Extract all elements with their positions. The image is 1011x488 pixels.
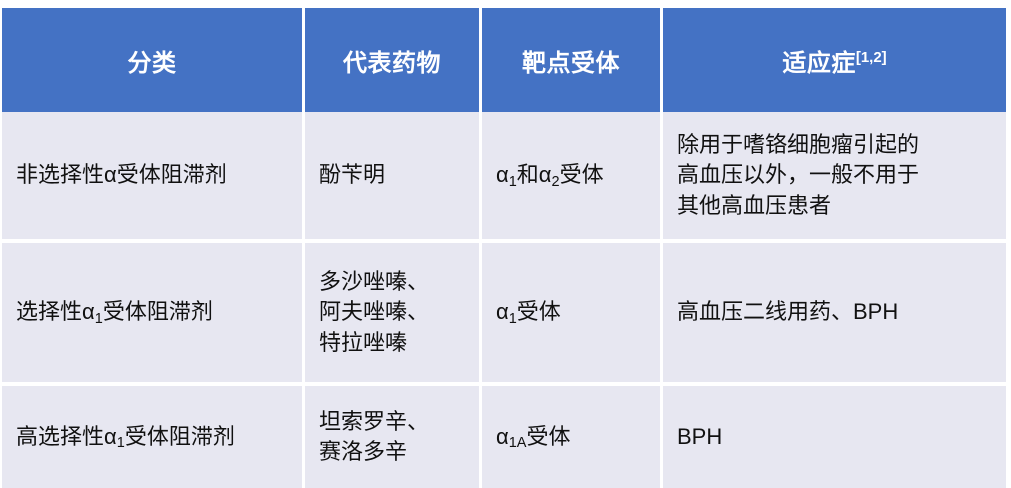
drug-name: 赛洛多辛 bbox=[319, 437, 465, 467]
receptor-suffix: 受体 bbox=[517, 299, 561, 324]
cell-indications: 高血压二线用药、BPH bbox=[663, 243, 1006, 386]
column-header-target-receptor: 靶点受体 bbox=[482, 8, 663, 112]
column-header-classification: 分类 bbox=[2, 8, 305, 112]
classification-subscript: 1 bbox=[95, 311, 103, 327]
receptor-suffix: 受体 bbox=[526, 424, 570, 449]
drug-name: 特拉唑嗪 bbox=[319, 328, 465, 358]
cell-representative-drugs: 多沙唑嗪、 阿夫唑嗪、 特拉唑嗪 bbox=[305, 243, 482, 386]
target-receptor-text: α1受体 bbox=[496, 299, 561, 324]
receptor-subscript: 1 bbox=[509, 174, 517, 190]
column-header-target-receptor-label: 靶点受体 bbox=[522, 50, 620, 77]
table-row: 高选择性α1受体阻滞剂 坦索罗辛、 赛洛多辛 α1A受体 BPH bbox=[2, 386, 1006, 488]
classification-prefix: 选择性α bbox=[16, 299, 95, 324]
receptor-symbol: α bbox=[496, 424, 509, 449]
classification-text: 选择性α1受体阻滞剂 bbox=[16, 299, 213, 324]
indication-line: 高血压二线用药、BPH bbox=[677, 297, 992, 327]
column-header-representative-drugs-label: 代表药物 bbox=[343, 50, 441, 77]
classification-prefix: 高选择性α bbox=[16, 424, 117, 449]
drug-name: 阿夫唑嗪、 bbox=[319, 297, 465, 327]
column-header-classification-label: 分类 bbox=[128, 50, 177, 77]
table-row: 选择性α1受体阻滞剂 多沙唑嗪、 阿夫唑嗪、 特拉唑嗪 α1受体 高血压二线用药… bbox=[2, 243, 1006, 386]
cell-classification: 选择性α1受体阻滞剂 bbox=[2, 243, 305, 386]
classification-text: 高选择性α1受体阻滞剂 bbox=[16, 424, 235, 449]
cell-indications: BPH bbox=[663, 386, 1006, 488]
cell-representative-drugs: 酚苄明 bbox=[305, 112, 482, 243]
column-header-indications-label: 适应症 bbox=[782, 50, 856, 77]
receptor-subscript: 1A bbox=[509, 435, 527, 451]
receptor-subscript-2: 2 bbox=[552, 174, 560, 190]
table-row: 非选择性α受体阻滞剂 酚苄明 α1和α2受体 除用于嗜铬细胞瘤引起的 高血压以外… bbox=[2, 112, 1006, 243]
receptor-conjunction: 和α bbox=[517, 162, 552, 187]
receptor-subscript: 1 bbox=[509, 311, 517, 327]
cell-representative-drugs: 坦索罗辛、 赛洛多辛 bbox=[305, 386, 482, 488]
column-header-representative-drugs: 代表药物 bbox=[305, 8, 482, 112]
cell-classification: 高选择性α1受体阻滞剂 bbox=[2, 386, 305, 488]
drug-name: 酚苄明 bbox=[319, 160, 465, 190]
cell-indications: 除用于嗜铬细胞瘤引起的 高血压以外，一般不用于 其他高血压患者 bbox=[663, 112, 1006, 243]
table-body: 非选择性α受体阻滞剂 酚苄明 α1和α2受体 除用于嗜铬细胞瘤引起的 高血压以外… bbox=[2, 112, 1006, 488]
drug-name: 多沙唑嗪、 bbox=[319, 267, 465, 297]
classification-suffix: 受体阻滞剂 bbox=[103, 299, 213, 324]
indication-line: 除用于嗜铬细胞瘤引起的 bbox=[677, 130, 992, 160]
classification-suffix: 受体阻滞剂 bbox=[125, 424, 235, 449]
drug-name: 坦索罗辛、 bbox=[319, 407, 465, 437]
cell-target-receptor: α1和α2受体 bbox=[482, 112, 663, 243]
column-header-indications: 适应症[1,2] bbox=[663, 8, 1006, 112]
receptor-symbol: α bbox=[496, 162, 509, 187]
classification-subscript: 1 bbox=[117, 435, 125, 451]
indications-reference-superscript: [1,2] bbox=[856, 49, 887, 66]
page-canvas: 分类 代表药物 靶点受体 适应症[1,2] 非选择性α受体阻滞剂 bbox=[0, 0, 1011, 487]
cell-target-receptor: α1A受体 bbox=[482, 386, 663, 488]
table-header: 分类 代表药物 靶点受体 适应症[1,2] bbox=[2, 8, 1006, 112]
indication-line: 其他高血压患者 bbox=[677, 191, 992, 221]
alpha-blocker-classification-table: 分类 代表药物 靶点受体 适应症[1,2] 非选择性α受体阻滞剂 bbox=[2, 8, 1006, 488]
indication-line: 高血压以外，一般不用于 bbox=[677, 160, 992, 190]
classification-text: 非选择性α受体阻滞剂 bbox=[16, 162, 227, 187]
receptor-symbol: α bbox=[496, 299, 509, 324]
target-receptor-text: α1A受体 bbox=[496, 424, 571, 449]
receptor-suffix: 受体 bbox=[560, 162, 604, 187]
header-row: 分类 代表药物 靶点受体 适应症[1,2] bbox=[2, 8, 1006, 112]
cell-target-receptor: α1受体 bbox=[482, 243, 663, 386]
cell-classification: 非选择性α受体阻滞剂 bbox=[2, 112, 305, 243]
indication-line: BPH bbox=[677, 422, 992, 452]
target-receptor-text: α1和α2受体 bbox=[496, 162, 604, 187]
